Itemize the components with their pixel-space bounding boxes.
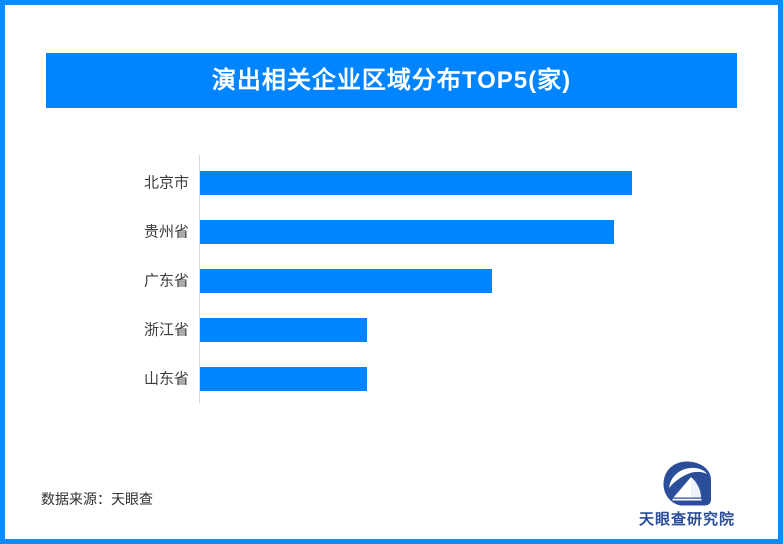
infographic-poster: 演出相关企业区域分布TOP5(家) 北京市 贵州省 广东省 浙江省 山东省 数据… — [0, 0, 783, 544]
category-label-zhejiang: 浙江省 — [5, 323, 189, 338]
bar-chart: 北京市 贵州省 广东省 浙江省 山东省 — [5, 5, 778, 539]
bar-beijing — [200, 171, 632, 195]
bar-guangdong — [200, 269, 492, 293]
category-label-guizhou: 贵州省 — [5, 225, 189, 240]
logo-label: 天眼查研究院 — [632, 512, 742, 527]
data-source-note: 数据来源：天眼查 — [41, 492, 153, 506]
bar-guizhou — [200, 220, 614, 244]
bar-zhejiang — [200, 318, 367, 342]
category-label-beijing: 北京市 — [5, 176, 189, 191]
tianyancha-logo-icon — [661, 460, 713, 507]
category-label-shandong: 山东省 — [5, 372, 189, 387]
brand-logo: 天眼查研究院 — [632, 460, 742, 527]
bar-shandong — [200, 367, 367, 391]
category-label-guangdong: 广东省 — [5, 274, 189, 289]
